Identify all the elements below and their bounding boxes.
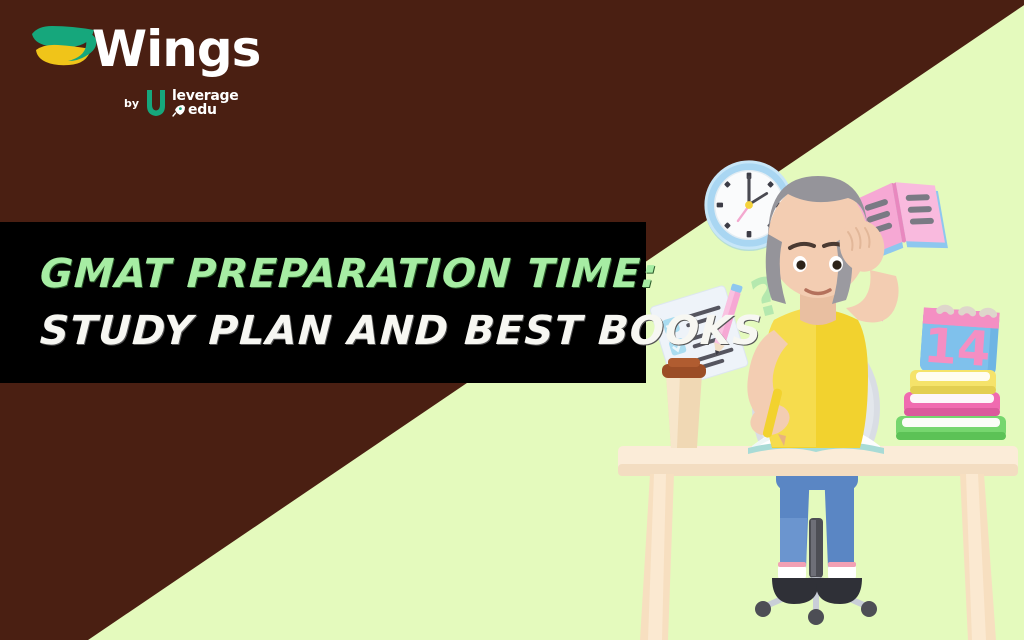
logo-primary-row: Wings [28,18,228,84]
edu-label: edu [188,103,217,117]
edu-row: edu [172,103,238,117]
logo-wordmark: Wings [92,18,260,80]
leverage-check-icon [145,88,167,118]
leverage-label: leverage [172,89,238,103]
logo-byline: by leverage edu [124,88,238,118]
title-line-2: Study Plan and Best Books [38,302,647,360]
logo-by-label: by [124,97,139,110]
title-banner: GMAT Preparation Time: Study Plan and Be… [0,222,646,383]
wings-logo[interactable]: Wings by leverage [28,18,228,133]
rocket-icon [172,104,185,117]
wing-icon [30,24,98,76]
leverage-edu-wordmark: leverage edu [172,89,238,117]
title-line-1: GMAT Preparation Time: [39,246,648,302]
promo-banner: 14 ? ? ? [0,0,1024,640]
